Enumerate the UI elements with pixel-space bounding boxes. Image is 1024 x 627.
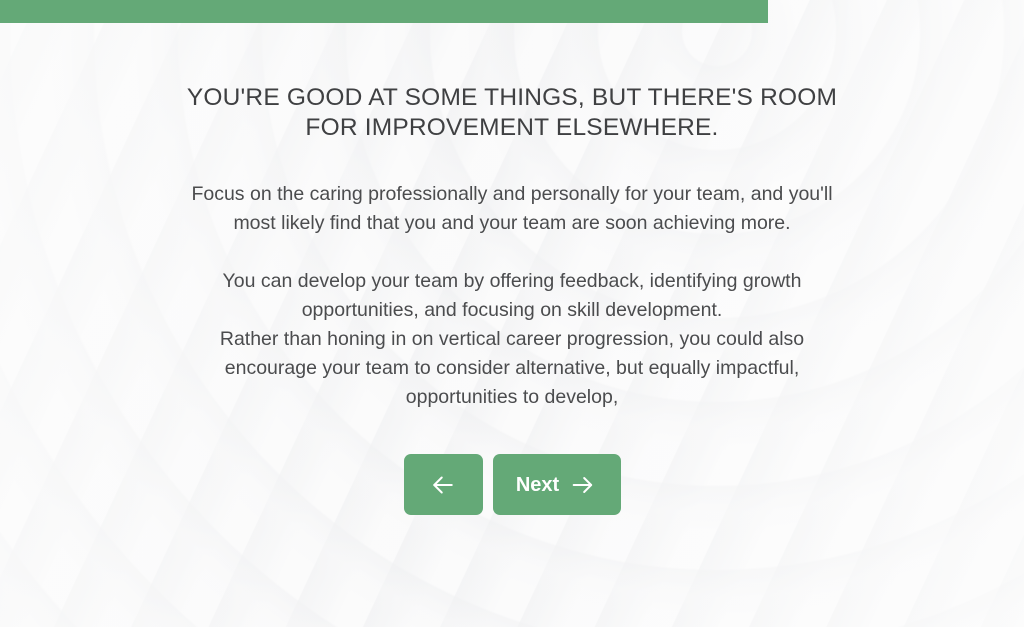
progress-bar-track [0, 0, 1024, 23]
progress-bar-fill [0, 0, 768, 23]
arrow-right-icon [569, 471, 597, 499]
result-paragraph-3: Rather than honing in on vertical career… [182, 325, 842, 412]
result-content: YOU'RE GOOD AT SOME THINGS, BUT THERE'S … [0, 0, 1024, 515]
navigation-buttons: Next [0, 412, 1024, 515]
paragraph-spacer [182, 238, 842, 267]
result-paragraph-2: You can develop your team by offering fe… [182, 267, 842, 325]
result-heading: YOU'RE GOOD AT SOME THINGS, BUT THERE'S … [162, 23, 862, 143]
result-paragraph-1: Focus on the caring professionally and p… [182, 180, 842, 238]
arrow-left-icon [428, 470, 458, 500]
back-button[interactable] [404, 454, 483, 515]
result-body: Focus on the caring professionally and p… [182, 143, 842, 412]
next-button[interactable]: Next [493, 454, 621, 515]
next-button-label: Next [516, 475, 559, 495]
